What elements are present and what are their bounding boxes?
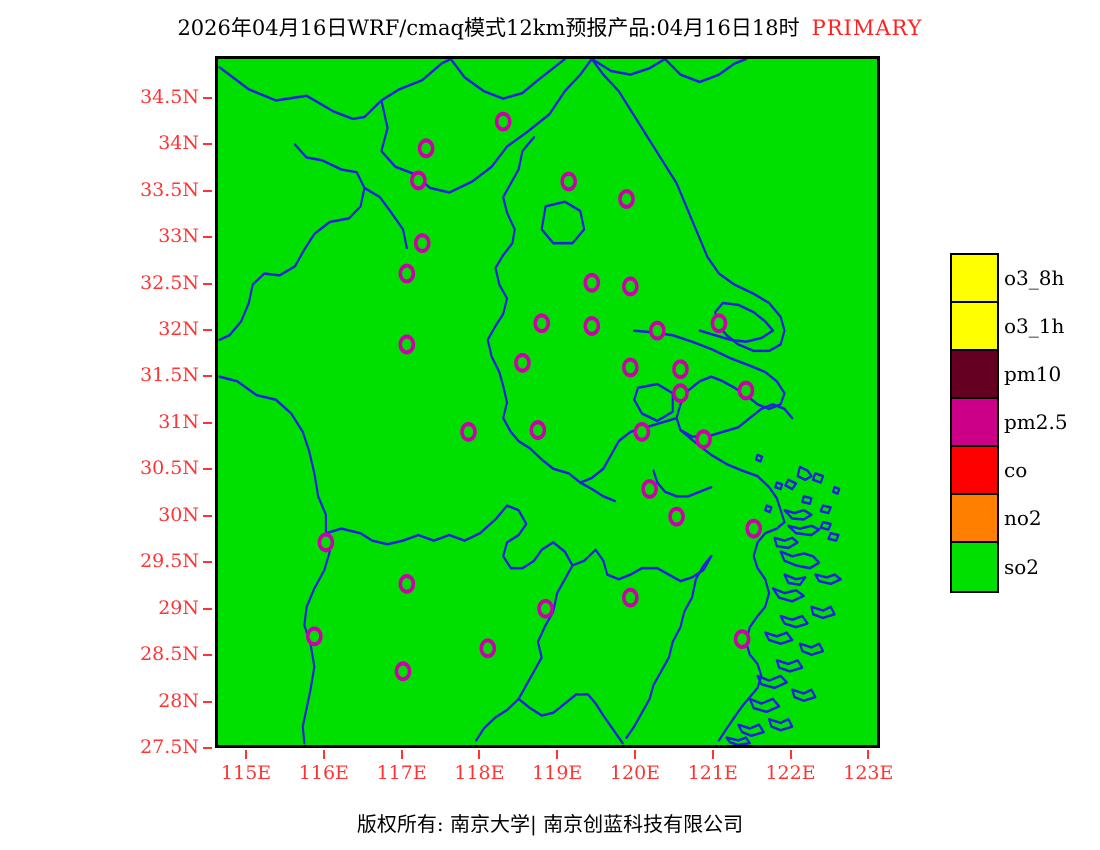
y-tick-label: 32N <box>0 318 199 340</box>
station-marker <box>739 383 752 399</box>
y-tick-mark <box>203 283 212 285</box>
station-marker <box>697 431 710 447</box>
x-tick-label: 120E <box>595 762 675 784</box>
station-marker <box>674 361 687 377</box>
station-marker <box>562 174 575 190</box>
y-tick-mark <box>203 608 212 610</box>
x-tick-label: 116E <box>284 762 364 784</box>
legend-item-label: pm10 <box>1004 362 1061 386</box>
y-tick-label: 33.5N <box>0 179 199 201</box>
y-tick-mark <box>203 422 212 424</box>
y-tick-label: 28.5N <box>0 643 199 665</box>
x-tick-label: 117E <box>362 762 442 784</box>
station-marker <box>624 360 637 376</box>
x-tick-label: 122E <box>751 762 831 784</box>
legend-item-label: no2 <box>1004 506 1042 530</box>
footer-copyright: 版权所有: 南京大学| 南京创蓝科技有限公司 <box>0 808 1100 837</box>
y-tick-label: 28N <box>0 690 199 712</box>
map-plot-frame <box>215 56 880 748</box>
station-marker <box>736 631 749 647</box>
x-tick-label: 121E <box>673 762 753 784</box>
legend-item-label: so2 <box>1004 555 1039 579</box>
station-marker <box>585 275 598 291</box>
station-marker <box>624 279 637 295</box>
y-tick-mark <box>203 654 212 656</box>
x-tick-label: 115E <box>206 762 286 784</box>
station-marker <box>400 266 413 282</box>
y-tick-label: 27.5N <box>0 736 199 758</box>
station-marker <box>497 114 510 130</box>
y-tick-label: 29.5N <box>0 550 199 572</box>
y-tick-label: 29N <box>0 597 199 619</box>
station-marker <box>624 590 637 606</box>
x-tick-mark <box>556 750 558 759</box>
legend-item-o3-1h[interactable]: o3_1h <box>952 303 997 351</box>
station-marker <box>308 629 321 645</box>
station-marker <box>643 481 656 497</box>
legend-item-label: o3_8h <box>1004 266 1064 290</box>
y-tick-mark <box>203 468 212 470</box>
station-marker <box>712 315 725 331</box>
station-marker <box>516 355 529 371</box>
station-marker <box>400 576 413 592</box>
legend-item-pm2-5[interactable]: pm2.5 <box>952 399 997 447</box>
station-marker <box>747 521 760 537</box>
station-marker <box>400 337 413 353</box>
y-tick-mark <box>203 190 212 192</box>
legend-item-so2[interactable]: so2 <box>952 543 997 591</box>
map-background-layer <box>218 59 877 745</box>
y-tick-label: 30.5N <box>0 457 199 479</box>
x-tick-mark <box>478 750 480 759</box>
y-tick-mark <box>203 97 212 99</box>
title-main-text: 2026年04月16日WRF/cmaq模式12km预报产品:04月16日18时 <box>177 16 799 40</box>
y-tick-mark <box>203 329 212 331</box>
station-marker <box>535 315 548 331</box>
station-marker <box>539 601 552 617</box>
legend-item-pm10[interactable]: pm10 <box>952 351 997 399</box>
y-tick-label: 30N <box>0 504 199 526</box>
y-tick-label: 34.5N <box>0 86 199 108</box>
x-tick-label: 119E <box>517 762 597 784</box>
y-tick-label: 32.5N <box>0 272 199 294</box>
station-marker <box>674 385 687 401</box>
y-tick-mark <box>203 747 212 749</box>
station-marker <box>635 424 648 440</box>
station-marker <box>481 640 494 656</box>
station-marker <box>416 235 429 251</box>
y-tick-mark <box>203 561 212 563</box>
x-tick-mark <box>634 750 636 759</box>
station-marker <box>670 509 683 525</box>
x-tick-mark <box>867 750 869 759</box>
legend-item-no2[interactable]: no2 <box>952 495 997 543</box>
legend-item-label: o3_1h <box>1004 314 1064 338</box>
map-canvas <box>218 59 877 745</box>
y-tick-mark <box>203 515 212 517</box>
x-tick-mark <box>790 750 792 759</box>
y-tick-mark <box>203 375 212 377</box>
legend-item-o3-8h[interactable]: o3_8h <box>952 255 997 303</box>
legend-item-co[interactable]: co <box>952 447 997 495</box>
station-marker <box>319 535 332 551</box>
station-marker <box>462 424 475 440</box>
x-tick-mark <box>401 750 403 759</box>
y-tick-label: 34N <box>0 132 199 154</box>
y-tick-mark <box>203 143 212 145</box>
page-title: 2026年04月16日WRF/cmaq模式12km预报产品:04月16日18时P… <box>0 12 1100 42</box>
y-tick-mark <box>203 701 212 703</box>
legend-item-label: pm2.5 <box>1004 410 1068 434</box>
station-marker <box>531 422 544 438</box>
legend-panel: o3_8ho3_1hpm10pm2.5cono2so2 <box>950 253 999 593</box>
y-tick-mark <box>203 236 212 238</box>
y-tick-label: 33N <box>0 225 199 247</box>
y-tick-label: 31N <box>0 411 199 433</box>
x-tick-label: 123E <box>828 762 908 784</box>
station-marker <box>585 318 598 334</box>
x-tick-mark <box>323 750 325 759</box>
station-marker <box>420 140 433 156</box>
station-marker <box>412 173 425 189</box>
x-tick-label: 118E <box>439 762 519 784</box>
legend-item-label: co <box>1004 458 1027 482</box>
station-marker <box>620 191 633 207</box>
station-marker <box>396 664 409 680</box>
station-marker <box>651 323 664 339</box>
x-tick-mark <box>712 750 714 759</box>
y-tick-label: 31.5N <box>0 364 199 386</box>
x-tick-mark <box>245 750 247 759</box>
title-primary-text: PRIMARY <box>812 16 923 40</box>
